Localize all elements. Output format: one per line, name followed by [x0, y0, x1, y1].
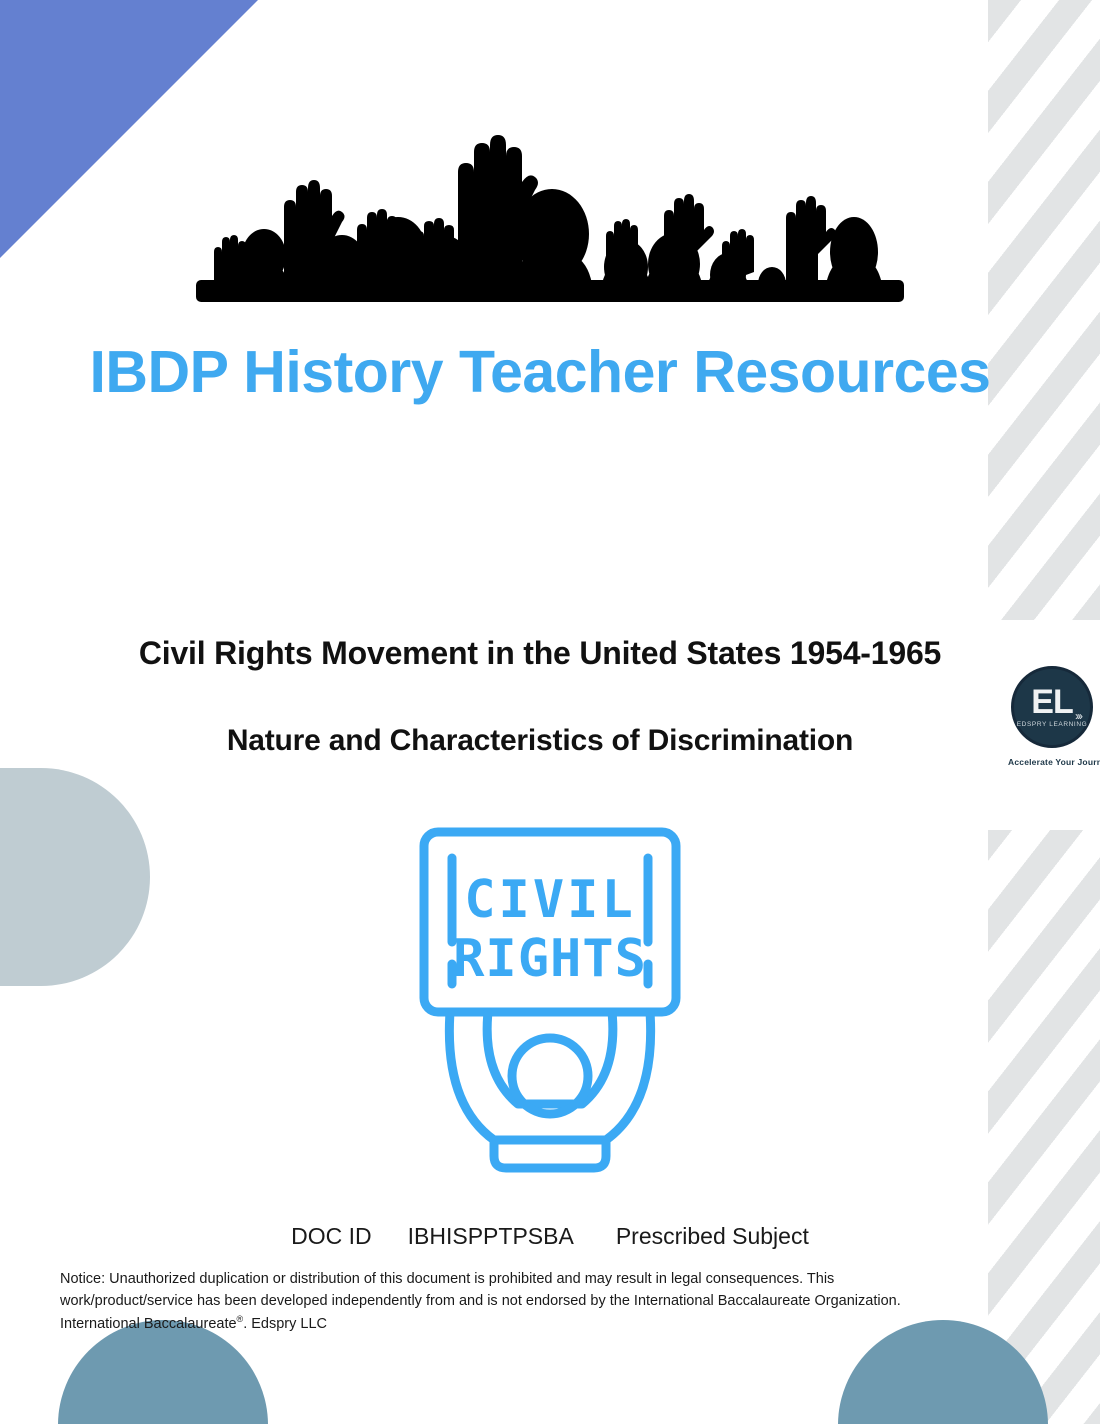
logo-tagline: Accelerate Your Journey: [1008, 757, 1096, 767]
logo-wordmark: EDSPRY LEARNING: [1014, 722, 1090, 729]
document-cover-page: IBDP History Teacher Resources Civil Rig…: [0, 0, 1100, 1424]
doc-id-value: IBHISPPTPSBA: [408, 1223, 574, 1250]
logo-circle-badge: EL ››› EDSPRY LEARNING: [1011, 666, 1093, 748]
subtitle-block: Civil Rights Movement in the United Stat…: [0, 635, 1080, 758]
sign-text-line2: RIGHTS: [453, 929, 647, 989]
edspry-learning-logo: EL ››› EDSPRY LEARNING Accelerate Your J…: [1008, 666, 1096, 767]
notice-ib-name: International Baccalaureate: [60, 1316, 237, 1332]
sign-text-line1: CIVIL: [464, 870, 636, 930]
notice-line-2: work/product/service has been developed …: [60, 1290, 990, 1312]
notice-line-3: International Baccalaureate®. Edspry LLC: [60, 1313, 990, 1335]
page-content: IBDP History Teacher Resources Civil Rig…: [0, 0, 1100, 1424]
doc-id-row: DOC IDIBHISPPTPSBAPrescribed Subject: [0, 1223, 1100, 1250]
doc-category-label: Prescribed Subject: [616, 1223, 809, 1250]
subtitle-topic: Civil Rights Movement in the United Stat…: [0, 635, 1080, 672]
raised-hands-crowd-icon: [194, 112, 906, 307]
doc-id-label: DOC ID: [291, 1223, 372, 1250]
notice-publisher: . Edspry LLC: [243, 1316, 327, 1332]
legal-notice: Notice: Unauthorized duplication or dist…: [60, 1268, 990, 1335]
page-title: IBDP History Teacher Resources: [0, 338, 1080, 406]
civil-rights-sign-icon: CIVIL RIGHTS: [414, 824, 686, 1174]
notice-line-1: Notice: Unauthorized duplication or dist…: [60, 1268, 990, 1290]
subtitle-subtopic: Nature and Characteristics of Discrimina…: [0, 724, 1080, 758]
